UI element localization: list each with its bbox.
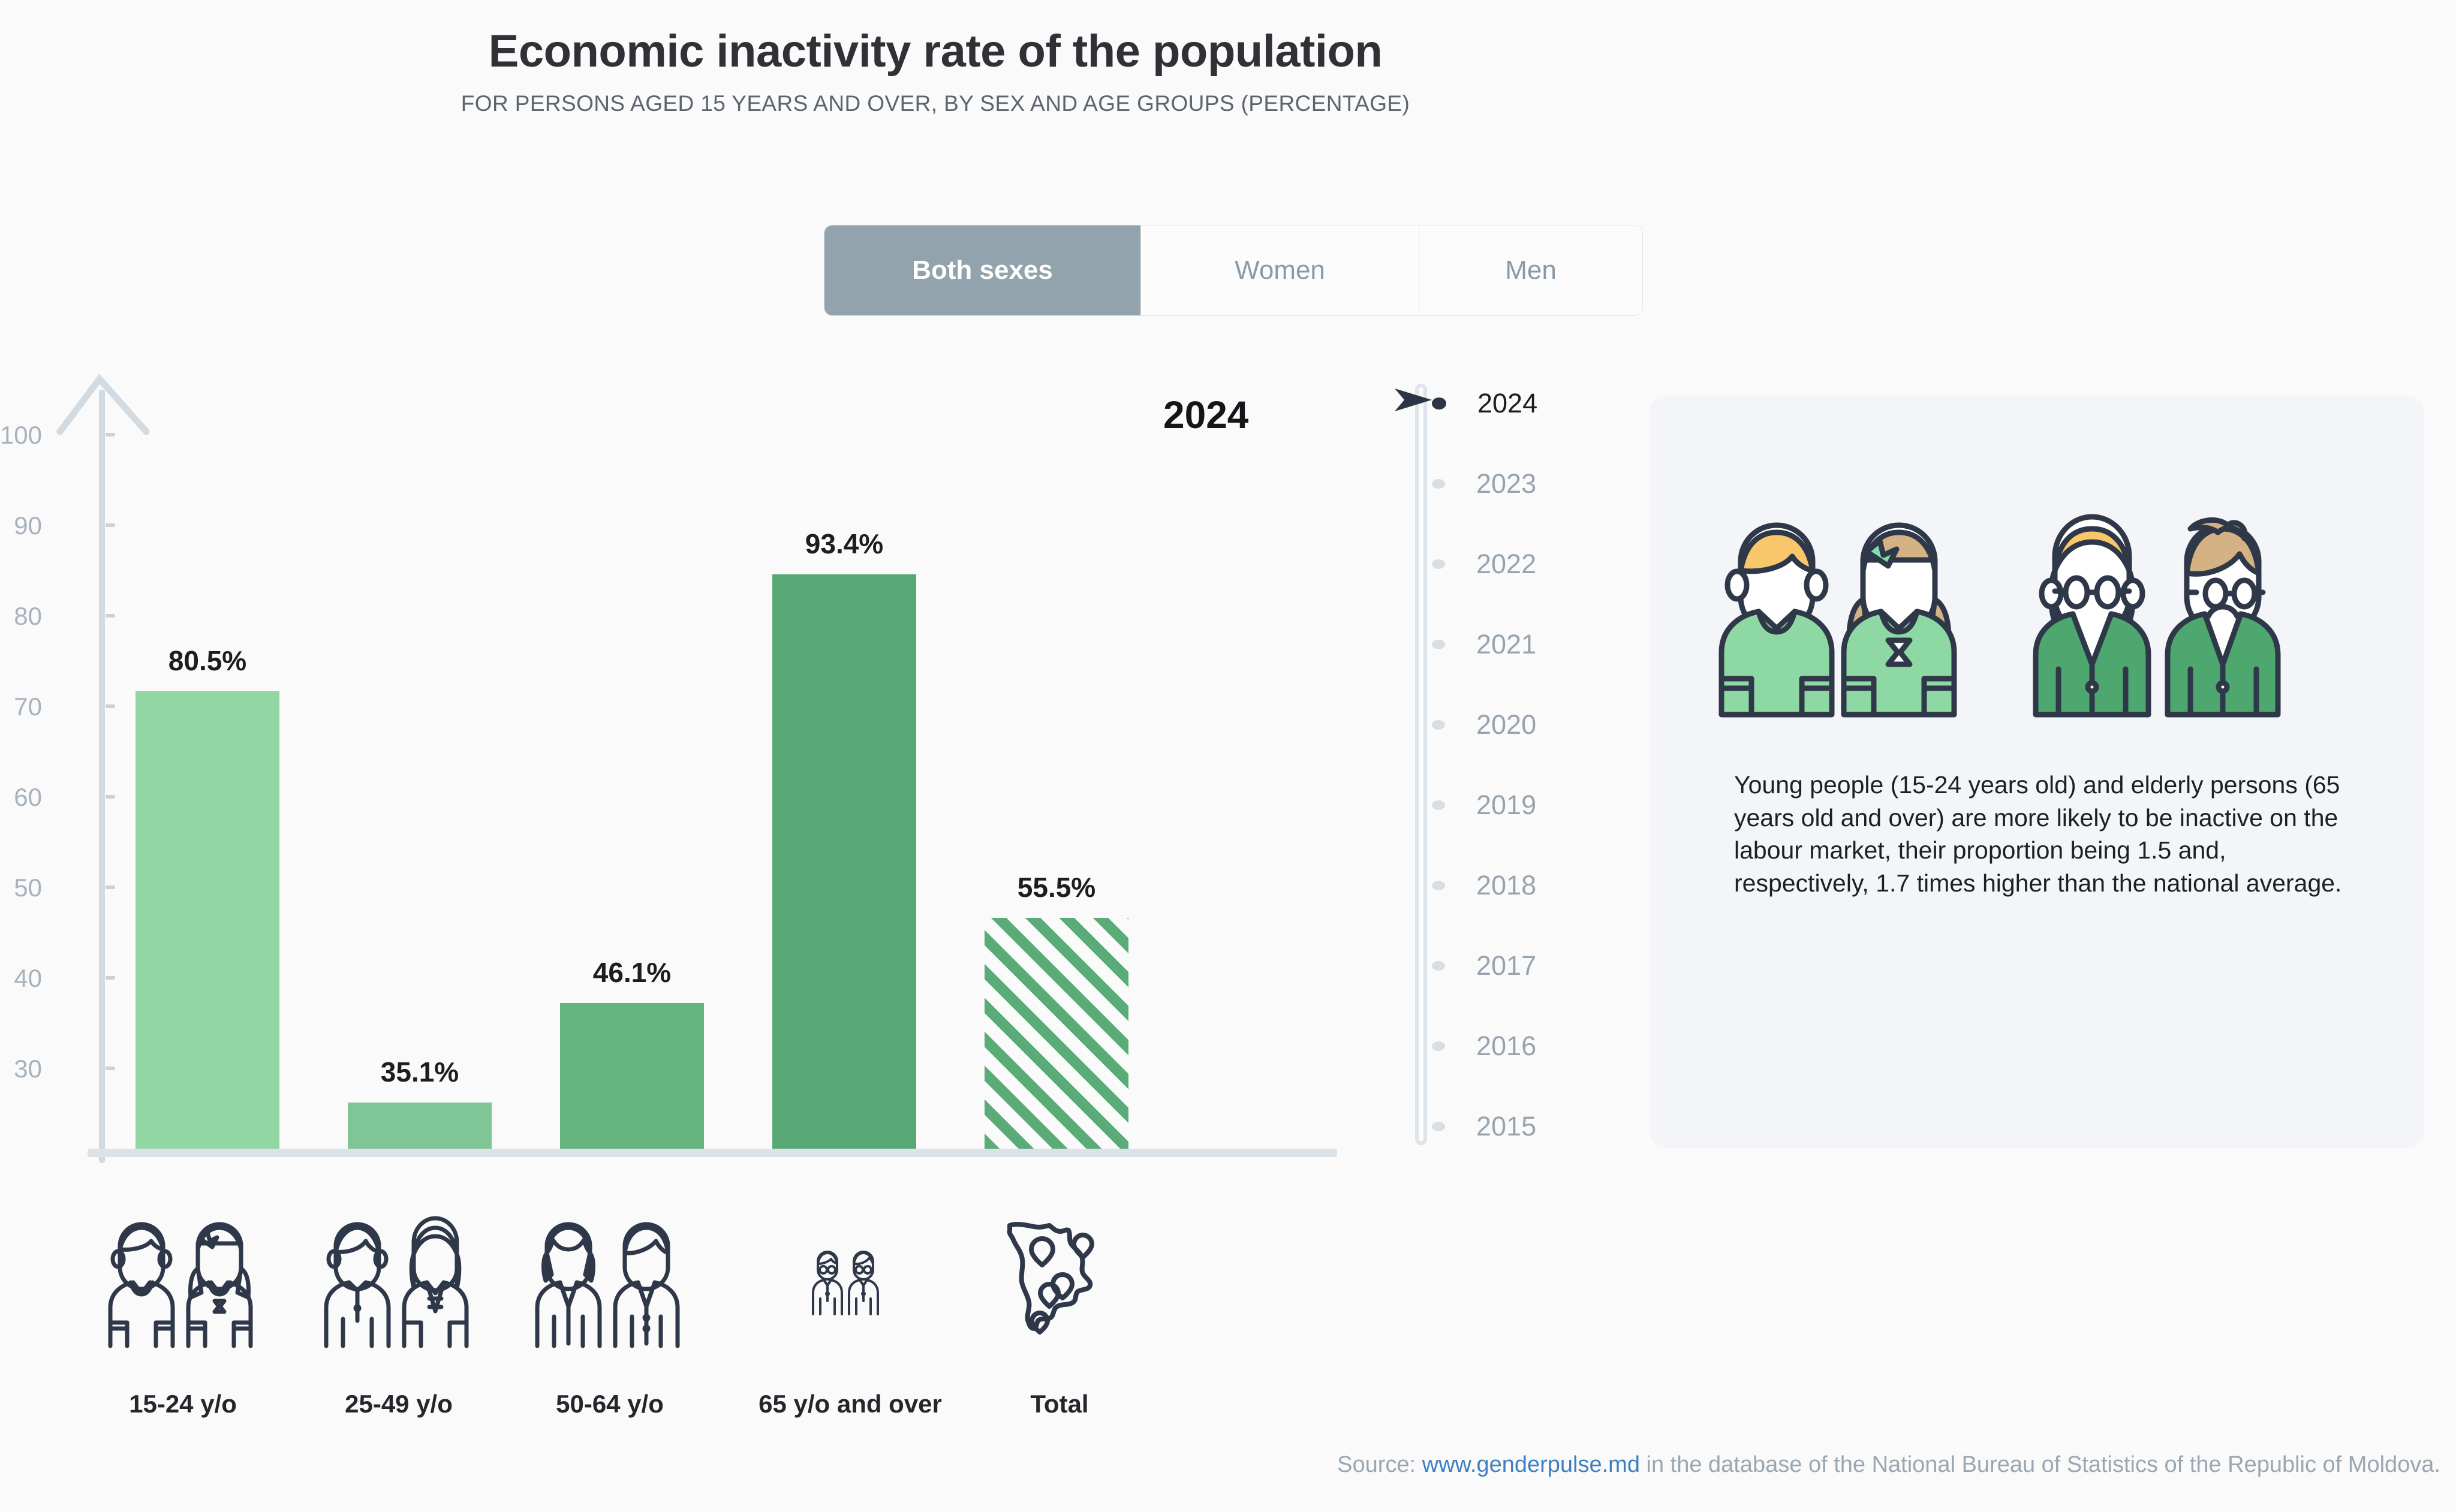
tab-both-sexes[interactable]: Both sexes <box>824 225 1141 315</box>
cat-label-25-49: 25-49 y/o <box>312 1390 486 1418</box>
y-tick-mark-50 <box>106 885 115 889</box>
source-link[interactable]: www.genderpulse.md <box>1422 1452 1640 1477</box>
y-tick-label-60: 60 <box>0 783 42 812</box>
year-timeline[interactable]: 2024 2023 2022 2021 2020 2019 2018 2017 <box>1397 378 1649 1175</box>
source-suffix: in the database of the National Bureau o… <box>1640 1452 2440 1477</box>
timeline-year-2020[interactable]: 2020 <box>1432 704 1630 746</box>
timeline-dot <box>1432 1122 1445 1131</box>
timeline-year-2022[interactable]: 2022 <box>1432 543 1630 585</box>
y-tick-label-30: 30 <box>0 1055 42 1083</box>
timeline-year-2024[interactable]: 2024 <box>1432 382 1630 424</box>
timeline-year-2017[interactable]: 2017 <box>1432 945 1630 987</box>
bar-15-24[interactable] <box>136 691 279 1149</box>
cat-label-15-24: 15-24 y/o <box>96 1390 270 1418</box>
timeline-year-label: 2024 <box>1477 388 1537 419</box>
page-subtitle: FOR PERSONS AGED 15 YEARS AND OVER, BY S… <box>0 91 1871 116</box>
info-card: Young people (15-24 years old) and elder… <box>1650 396 2424 1148</box>
bar-value-65-and-over: 93.4% <box>760 528 928 560</box>
timeline-dot <box>1432 397 1446 409</box>
timeline-year-label: 2020 <box>1476 709 1536 740</box>
y-tick-mark-60 <box>106 795 115 799</box>
timeline-year-label: 2023 <box>1476 468 1536 499</box>
y-tick-label-90: 90 <box>0 511 42 540</box>
elderly-pair-icon <box>809 1246 881 1317</box>
timeline-year-2016[interactable]: 2016 <box>1432 1025 1630 1067</box>
timeline-scroll-track[interactable] <box>1415 384 1427 1145</box>
young-pair-icon <box>102 1211 263 1349</box>
info-card-text: Young people (15-24 years old) and elder… <box>1734 769 2352 899</box>
timeline-dot <box>1432 720 1445 730</box>
mature-pair-icon <box>529 1211 690 1349</box>
timeline-year-label: 2015 <box>1476 1111 1536 1142</box>
y-tick-mark-100 <box>106 433 115 436</box>
timeline-dot <box>1432 800 1445 810</box>
timeline-dot <box>1432 961 1445 971</box>
timeline-year-2021[interactable]: 2021 <box>1432 624 1630 665</box>
timeline-dot <box>1432 1041 1445 1051</box>
timeline-year-2018[interactable]: 2018 <box>1432 865 1630 906</box>
bar-chart: 100 90 80 70 60 50 40 30 80.5% 35.1% 46.… <box>0 372 1337 1169</box>
timeline-dot <box>1432 640 1445 649</box>
cat-label-50-64: 50-64 y/o <box>523 1390 697 1418</box>
timeline-year-2015[interactable]: 2015 <box>1432 1106 1630 1147</box>
bar-total[interactable] <box>985 918 1128 1149</box>
y-tick-label-100: 100 <box>0 421 42 450</box>
sex-tab-group[interactable]: Both sexes Women Men <box>824 225 1643 316</box>
page-title: Economic inactivity rate of the populati… <box>0 25 1871 77</box>
y-tick-label-70: 70 <box>0 692 42 721</box>
timeline-dot <box>1432 479 1445 489</box>
tab-men[interactable]: Men <box>1419 225 1642 315</box>
bar-65-and-over[interactable] <box>772 574 916 1149</box>
people-illustration-icon <box>1713 504 2373 719</box>
timeline-dot <box>1432 881 1445 890</box>
bar-value-15-24: 80.5% <box>124 644 291 677</box>
y-tick-mark-30 <box>106 1067 115 1070</box>
cat-label-65-and-over: 65 y/o and over <box>730 1390 970 1418</box>
adult-pair-icon <box>318 1211 478 1349</box>
y-tick-mark-90 <box>106 523 115 527</box>
timeline-pointer-icon <box>1392 382 1434 417</box>
bar-value-total: 55.5% <box>973 871 1140 903</box>
y-tick-mark-40 <box>106 976 115 980</box>
source-footer: Source: www.genderpulse.md in the databa… <box>0 1452 2440 1478</box>
cat-label-total: Total <box>973 1390 1146 1418</box>
timeline-year-label: 2018 <box>1476 870 1536 901</box>
timeline-dot <box>1432 559 1445 569</box>
y-tick-label-80: 80 <box>0 602 42 631</box>
timeline-year-2019[interactable]: 2019 <box>1432 784 1630 826</box>
timeline-year-label: 2022 <box>1476 549 1536 580</box>
source-prefix: Source: <box>1337 1452 1422 1477</box>
tab-women[interactable]: Women <box>1141 225 1419 315</box>
x-axis-line <box>88 1149 1337 1157</box>
timeline-year-2023[interactable]: 2023 <box>1432 463 1630 505</box>
moldova-map-icon <box>1003 1217 1110 1346</box>
timeline-year-label: 2016 <box>1476 1031 1536 1062</box>
y-axis-line <box>99 390 105 1163</box>
bar-25-49[interactable] <box>348 1103 492 1149</box>
bar-value-50-64: 46.1% <box>548 956 716 989</box>
timeline-year-label: 2019 <box>1476 790 1536 821</box>
y-tick-mark-80 <box>106 614 115 618</box>
timeline-year-label: 2017 <box>1476 950 1536 981</box>
timeline-year-label: 2021 <box>1476 629 1536 660</box>
y-tick-mark-70 <box>106 704 115 708</box>
y-tick-label-50: 50 <box>0 874 42 902</box>
bar-50-64[interactable] <box>560 1003 704 1149</box>
bar-value-25-49: 35.1% <box>336 1056 504 1088</box>
y-tick-label-40: 40 <box>0 964 42 993</box>
